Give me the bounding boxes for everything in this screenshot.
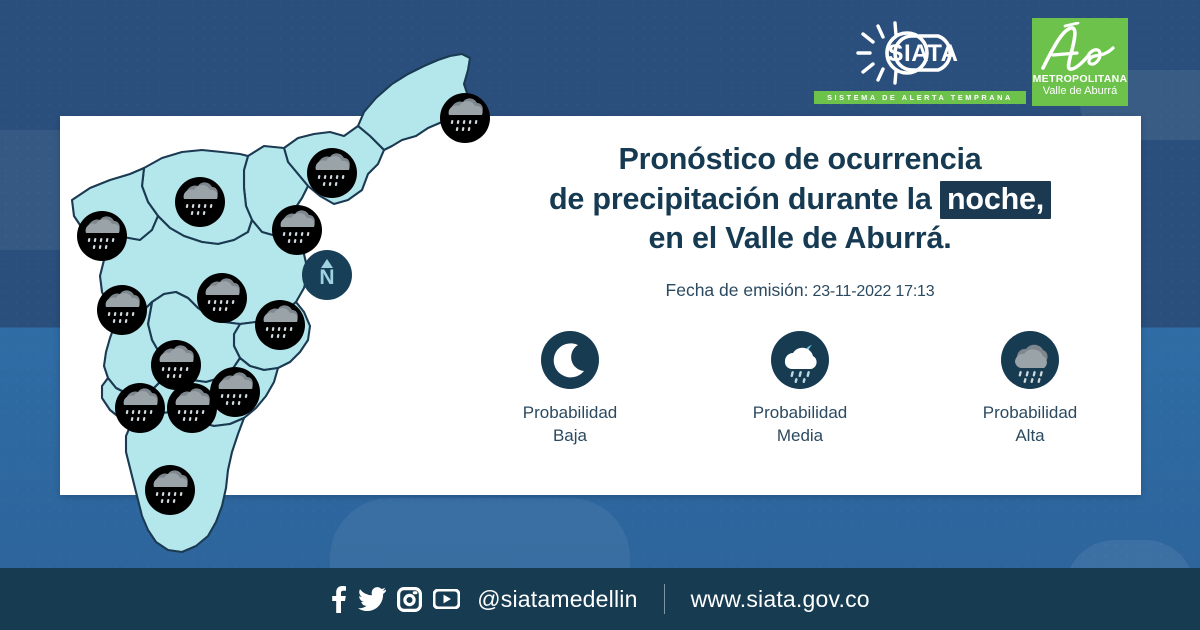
weather-marker-caldas-north[interactable] bbox=[167, 383, 217, 433]
siata-tagline-bar: SISTEMA DE ALERTA TEMPRANA bbox=[814, 91, 1026, 104]
compass-label: N bbox=[319, 266, 334, 289]
social-handle[interactable]: @siatamedellin bbox=[477, 586, 637, 613]
website-url[interactable]: www.siata.gov.co bbox=[691, 586, 870, 613]
weather-marker-la-estrella[interactable] bbox=[115, 383, 165, 433]
weather-marker-itagui[interactable] bbox=[97, 285, 147, 335]
weather-marker-caldas-east[interactable] bbox=[210, 367, 260, 417]
weather-marker-envigado[interactable] bbox=[255, 300, 305, 350]
title-highlight-noche: noche, bbox=[940, 181, 1051, 219]
area-logo-line2: Valle de Aburrá bbox=[1043, 85, 1117, 98]
twitter-icon[interactable] bbox=[358, 587, 386, 611]
logo-group: SIATA SISTEMA DE ALERTA TEMPRANA METROPO… bbox=[814, 18, 1128, 106]
area-script-icon bbox=[1037, 22, 1123, 74]
emission-date: Fecha de emisión:23-11-2022 17:13 bbox=[480, 280, 1120, 301]
cloud-rain-moon-icon bbox=[771, 331, 829, 389]
legend-baja-line1: Probabilidad bbox=[523, 402, 618, 425]
map-svg: N bbox=[52, 40, 472, 570]
weather-marker-medellin[interactable] bbox=[197, 273, 247, 323]
youtube-icon[interactable] bbox=[433, 589, 460, 609]
weather-marker-san-pedro[interactable] bbox=[175, 177, 225, 227]
probability-legend: Probabilidad Baja bbox=[480, 331, 1120, 448]
legend-item-media: Probabilidad Media bbox=[715, 331, 885, 448]
legend-media-line2: Media bbox=[753, 425, 848, 448]
facebook-icon[interactable] bbox=[330, 586, 347, 613]
page-title: Pronóstico de ocurrencia de precipitació… bbox=[480, 140, 1120, 259]
siata-logo: SIATA SISTEMA DE ALERTA TEMPRANA bbox=[814, 18, 1026, 104]
footer-divider bbox=[664, 584, 665, 614]
title-line-3: en el Valle de Aburrá. bbox=[480, 219, 1120, 259]
weather-marker-bello[interactable] bbox=[77, 211, 127, 261]
siata-tagline: SISTEMA DE ALERTA TEMPRANA bbox=[827, 93, 1013, 102]
valle-de-aburra-map: N bbox=[52, 40, 472, 570]
emission-date-label: Fecha de emisión: bbox=[666, 280, 809, 300]
area-metropolitana-logo: METROPOLITANA Valle de Aburrá bbox=[1032, 18, 1128, 106]
weather-marker-girardota[interactable] bbox=[307, 148, 357, 198]
siata-sun-cloud-icon: SIATA bbox=[850, 18, 990, 88]
weather-marker-sabaneta[interactable] bbox=[151, 340, 201, 390]
legend-baja-line2: Baja bbox=[523, 425, 618, 448]
title-line-1: Pronóstico de ocurrencia bbox=[480, 140, 1120, 180]
area-logo-line1: METROPOLITANA bbox=[1033, 74, 1128, 85]
legend-alta-line1: Probabilidad bbox=[983, 402, 1078, 425]
infographic-root: SIATA SISTEMA DE ALERTA TEMPRANA METROPO… bbox=[0, 0, 1200, 630]
legend-alta-line2: Alta bbox=[983, 425, 1078, 448]
social-icons bbox=[330, 586, 460, 613]
legend-label-alta: Probabilidad Alta bbox=[983, 402, 1078, 448]
emission-date-value: 23-11-2022 17:13 bbox=[813, 283, 935, 300]
forecast-content: Pronóstico de ocurrencia de precipitació… bbox=[480, 140, 1120, 448]
legend-item-alta: Probabilidad Alta bbox=[945, 331, 1115, 448]
weather-marker-barbosa[interactable] bbox=[440, 93, 490, 143]
legend-media-line1: Probabilidad bbox=[753, 402, 848, 425]
compass-north-icon: N bbox=[302, 250, 352, 300]
weather-marker-caldas-south[interactable] bbox=[145, 465, 195, 515]
title-line-2-text: de precipitación durante la bbox=[549, 182, 932, 216]
svg-text:SIATA: SIATA bbox=[888, 40, 959, 67]
legend-label-media: Probabilidad Media bbox=[753, 402, 848, 448]
moon-icon bbox=[541, 331, 599, 389]
legend-label-baja: Probabilidad Baja bbox=[523, 402, 618, 448]
weather-marker-copacabana[interactable] bbox=[272, 205, 322, 255]
cloud-heavy-rain-icon bbox=[1001, 331, 1059, 389]
footer-bar: @siatamedellin www.siata.gov.co bbox=[0, 568, 1200, 630]
title-line-2: de precipitación durante la noche, bbox=[480, 180, 1120, 220]
instagram-icon[interactable] bbox=[397, 587, 422, 612]
legend-item-baja: Probabilidad Baja bbox=[485, 331, 655, 448]
